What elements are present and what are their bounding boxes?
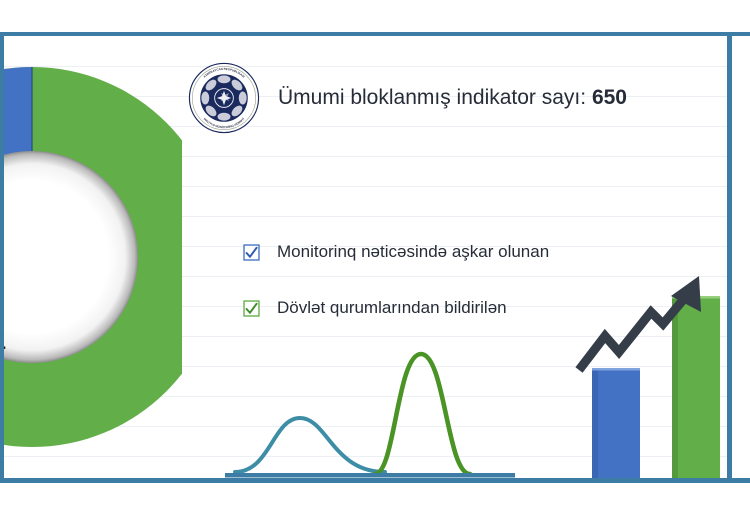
blue-bar — [592, 368, 640, 478]
legend-item-state-bodies[interactable]: Dövlət qurumlarından bildirilən — [243, 298, 549, 318]
green-bar-shade — [672, 296, 678, 478]
decorative-bell-curves — [225, 332, 515, 478]
infographic-panel: 216 434 AZƏRBAYCAN R — [0, 32, 750, 483]
frame-border-right — [727, 32, 732, 483]
frame-border-left — [0, 32, 4, 483]
donut-chart: 216 434 — [0, 36, 182, 478]
checkbox-checked-blue-icon — [243, 244, 260, 261]
page-title-prefix: Ümumi bloklanmış indikator sayı: — [278, 86, 592, 109]
donut-chart-svg — [0, 36, 182, 478]
legend-item-monitoring[interactable]: Monitorinq nəticəsində aşkar olunan — [243, 242, 549, 262]
checkbox-checked-green-icon — [243, 300, 260, 317]
chart-title-row: AZƏRBAYCAN RESPUBLİKASI MALİYYƏ MONİTORİ… — [188, 62, 627, 134]
total-blocked-count: 650 — [592, 86, 627, 109]
azerbaijan-state-emblem-icon: AZƏRBAYCAN RESPUBLİKASI MALİYYƏ MONİTORİ… — [188, 62, 260, 134]
legend-label-monitoring: Monitorinq nəticəsində aşkar olunan — [277, 242, 549, 262]
green-bar — [672, 296, 720, 478]
frame-border-top — [0, 32, 750, 36]
legend-label-state-bodies: Dövlət qurumlarından bildirilən — [277, 298, 507, 318]
frame-border-bottom — [0, 478, 750, 483]
wide-teal-curve — [235, 418, 385, 472]
page-title: Ümumi bloklanmış indikator sayı: 650 — [278, 86, 627, 110]
blue-bar-shade — [592, 368, 598, 478]
narrow-green-curve — [375, 354, 470, 474]
blue-bar-top-edge — [592, 368, 640, 371]
chart-legend: Monitorinq nəticəsində aşkar olunan Dövl… — [243, 242, 549, 318]
bar-chart-decoration — [575, 222, 725, 478]
curve-baseline — [225, 473, 515, 478]
